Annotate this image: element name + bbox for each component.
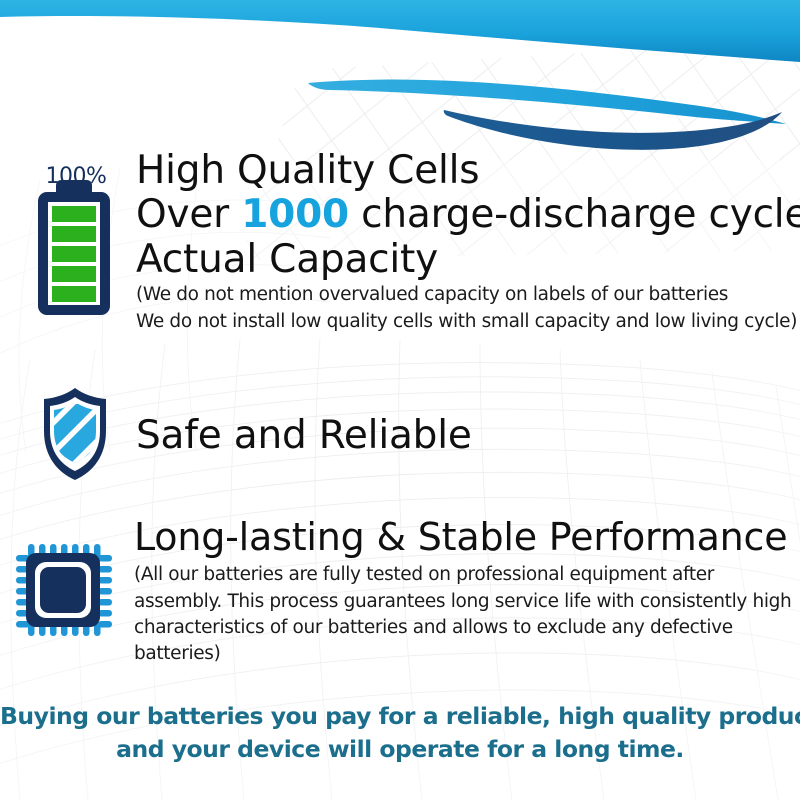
chip-icon-wrap (14, 538, 126, 646)
tagline-line-1: Buying our batteries you pay for a relia… (0, 700, 800, 733)
cycles-prefix: Over (136, 192, 241, 237)
quality-body-text: (We do not mention overvalued capacity o… (136, 282, 800, 335)
headline-high-quality-cells: High Quality Cells (136, 149, 800, 193)
headline-charge-cycles: Over 1000 charge-discharge cycles (136, 193, 800, 237)
shield-icon-wrap (22, 384, 126, 488)
battery-icon-wrap: 100% (22, 148, 126, 323)
feature-row-performance: Long-lasting & Stable Performance (All o… (14, 516, 784, 667)
cycles-suffix: charge-discharge cycles (349, 192, 800, 237)
battery-percent-label: 100% (34, 164, 118, 189)
cycles-count-accent: 1000 (241, 192, 349, 237)
safe-text-block: Safe and Reliable (126, 414, 782, 458)
mid-swoosh-shape (308, 80, 786, 124)
performance-body-line-4: batteries) (134, 641, 791, 667)
headline-actual-capacity: Actual Capacity (136, 238, 800, 282)
quality-body-line-1: (We do not mention overvalued capacity o… (136, 282, 800, 308)
feature-row-quality: 100% High Quality Cells Over 1000 charge… (22, 148, 782, 335)
low-swoosh-shape (444, 110, 782, 150)
performance-body-line-1: (All our batteries are fully tested on p… (134, 562, 791, 588)
performance-body-text: (All our batteries are fully tested on p… (134, 562, 791, 667)
top-wave-shape (0, 0, 800, 62)
chip-core (40, 567, 86, 613)
infographic-page: 100% High Quality Cells Over 1000 charge… (0, 0, 800, 800)
shield-icon (22, 384, 126, 484)
quality-body-line-2: We do not install low quality cells with… (136, 309, 800, 335)
headline-safe-and-reliable: Safe and Reliable (136, 414, 782, 458)
bottom-tagline: Buying our batteries you pay for a relia… (0, 700, 800, 767)
performance-body-line-3: characteristics of our batteries and all… (134, 615, 791, 641)
performance-text-block: Long-lasting & Stable Performance (All o… (126, 516, 791, 667)
blue-wave-banner (0, 0, 800, 160)
quality-text-block: High Quality Cells Over 1000 charge-disc… (126, 149, 800, 335)
cpu-chip-icon (14, 538, 126, 642)
tagline-line-2: and your device will operate for a long … (0, 733, 800, 766)
performance-body-line-2: assembly. This process guarantees long s… (134, 589, 791, 615)
headline-long-lasting-stable-performance: Long-lasting & Stable Performance (134, 516, 791, 559)
feature-row-safe: Safe and Reliable (22, 384, 782, 488)
